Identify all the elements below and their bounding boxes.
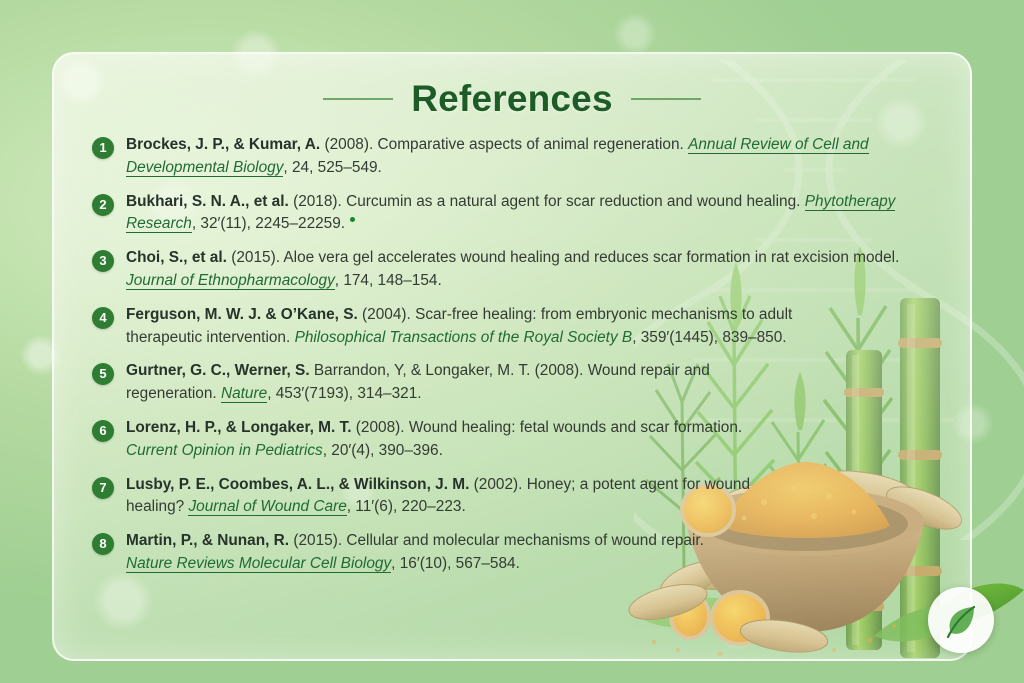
reference-year: (2002). (474, 476, 523, 493)
reference-text: Lusby, P. E., Coombes, A. L., & Wilkinso… (126, 474, 786, 520)
reference-number-badge: 2 (92, 194, 114, 216)
reference-year: (2015). (231, 249, 280, 266)
reference-authors: Lusby, P. E., Coombes, A. L., & Wilkinso… (126, 476, 469, 493)
page-title: References (411, 78, 613, 120)
reference-text: Brockes, J. P., & Kumar, A. (2008). Comp… (126, 134, 940, 180)
reference-title: Curcumin as a natural agent for scar red… (346, 193, 800, 210)
stray-dot-marker (350, 217, 355, 222)
reference-number-badge: 7 (92, 477, 114, 499)
reference-title: Aloe vera gel accelerates wound healing … (283, 249, 899, 266)
reference-number-badge: 4 (92, 307, 114, 329)
leaf-icon (940, 599, 982, 641)
reference-number-badge: 1 (92, 137, 114, 159)
reference-text: Ferguson, M. W. J. & O’Kane, S. (2004). … (126, 304, 826, 350)
reference-details: , 32′(11), 2245–22259. (192, 215, 345, 232)
reference-item-1: 1 Brockes, J. P., & Kumar, A. (2008). Co… (92, 134, 940, 180)
reference-year: (2008). (324, 136, 373, 153)
reference-authors: Bukhari, S. N. A., et al. (126, 193, 289, 210)
reference-item-5: 5 Gurtner, G. C., Werner, S. Barrandon, … (92, 360, 940, 406)
reference-number-badge: 5 (92, 363, 114, 385)
reference-authors: Lorenz, H. P., & Longaker, M. T. (126, 419, 351, 436)
reference-journal: Philosophical Transactions of the Royal … (295, 329, 633, 346)
reference-details: , 359′(1445), 839–850. (632, 329, 786, 346)
reference-item-2: 2 Bukhari, S. N. A., et al. (2018). Curc… (92, 191, 940, 237)
reference-journal: Current Opinion in Pediatrics (126, 442, 323, 459)
reference-item-8: 8 Martin, P., & Nunan, R. (2015). Cellul… (92, 530, 940, 576)
reference-journal: Journal of Wound Care (188, 498, 346, 516)
reference-item-3: 3 Choi, S., et al. (2015). Aloe vera gel… (92, 247, 940, 293)
title-rule-left (323, 98, 393, 100)
reference-details: , 24, 525–549. (283, 159, 381, 176)
reference-details: , 174, 148–154. (335, 272, 442, 289)
reference-year: (2018). (293, 193, 342, 210)
reference-authors: Choi, S., et al. (126, 249, 227, 266)
reference-number-badge: 3 (92, 250, 114, 272)
reference-authors: Martin, P., & Nunan, R. (126, 532, 289, 549)
reference-number-badge: 8 (92, 533, 114, 555)
reference-title: Comparative aspects of animal regenerati… (378, 136, 684, 153)
reference-authors-primary: Gurtner, G. C., Werner, S. (126, 362, 310, 379)
reference-list: 1 Brockes, J. P., & Kumar, A. (2008). Co… (54, 134, 970, 576)
reference-details: , 11′(6), 220–223. (347, 498, 466, 515)
reference-text: Gurtner, G. C., Werner, S. Barrandon, Y,… (126, 360, 786, 406)
reference-text: Lorenz, H. P., & Longaker, M. T. (2008).… (126, 417, 786, 463)
reference-authors: Ferguson, M. W. J. & O’Kane, S. (126, 306, 358, 323)
reference-text: Bukhari, S. N. A., et al. (2018). Curcum… (126, 191, 940, 237)
leaf-logo-badge[interactable] (928, 587, 994, 653)
reference-item-6: 6 Lorenz, H. P., & Longaker, M. T. (2008… (92, 417, 940, 463)
title-row: References (54, 78, 970, 120)
reference-authors: Brockes, J. P., & Kumar, A. (126, 136, 320, 153)
reference-year: (2008). (535, 362, 584, 379)
reference-year: (2008). (356, 419, 405, 436)
reference-journal: Nature Reviews Molecular Cell Biology (126, 555, 391, 573)
reference-journal: Nature (221, 385, 267, 403)
reference-title: Wound healing: fetal wounds and scar for… (409, 419, 742, 436)
reference-details: , 16′(10), 567–584. (391, 555, 520, 572)
reference-text: Martin, P., & Nunan, R. (2015). Cellular… (126, 530, 746, 576)
reference-details: , 453′(7193), 314–321. (267, 385, 421, 402)
reference-year: (2015). (293, 532, 342, 549)
reference-item-7: 7 Lusby, P. E., Coombes, A. L., & Wilkin… (92, 474, 940, 520)
references-card: References 1 Brockes, J. P., & Kumar, A.… (52, 52, 972, 661)
reference-item-4: 4 Ferguson, M. W. J. & O’Kane, S. (2004)… (92, 304, 940, 350)
reference-authors-secondary: Barrandon, Y, & Longaker, M. T. (310, 362, 531, 379)
reference-year: (2004). (362, 306, 411, 323)
reference-title: Cellular and molecular mechanisms of wou… (346, 532, 704, 549)
reference-text: Choi, S., et al. (2015). Aloe vera gel a… (126, 247, 940, 293)
reference-number-badge: 6 (92, 420, 114, 442)
reference-journal: Journal of Ethnopharmacology (126, 272, 335, 290)
title-rule-right (631, 98, 701, 100)
reference-details: , 20′(4), 390–396. (323, 442, 443, 459)
